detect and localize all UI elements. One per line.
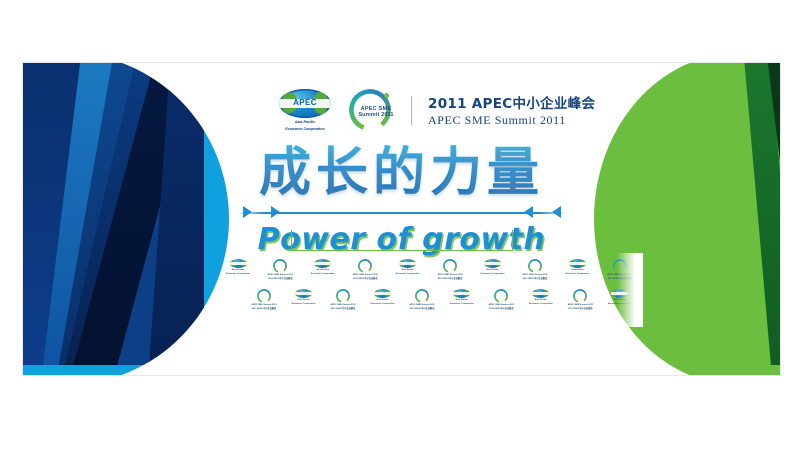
apec-globe-icon	[230, 259, 247, 268]
mini-logo-caption-2: Economic Cooperation	[364, 303, 402, 306]
mini-logo-caption-2: 2011 APEC中小企业峰会	[561, 308, 599, 311]
arrow-right-icon-1	[243, 206, 252, 218]
header-title-group: 2011 APEC中小企业峰会 APEC SME Summit 2011	[426, 92, 595, 128]
mini-logo-caption-2: 2011 APEC中小企业峰会	[324, 308, 362, 311]
mini-logo-caption-1: Asia-Pacific	[219, 269, 257, 272]
mini-logo-caption-2: Economic Cooperation	[304, 273, 342, 276]
apec-sme-summit-ring-icon	[415, 289, 429, 303]
globe-band	[453, 292, 470, 295]
mini-logo-caption-2: Economic Cooperation	[285, 303, 323, 306]
apec-sme-summit-ring-icon	[613, 259, 627, 273]
apec-globe-icon	[569, 259, 586, 268]
mini-logo-caption-2: 2011 APEC中小企业峰会	[261, 278, 299, 281]
apec-sme-summit-ring-icon	[257, 289, 271, 303]
main-title-block: 成长的力量 Power of growth	[23, 145, 780, 257]
mini-logo-caption-2: Economic Cooperation	[559, 273, 597, 276]
arrow-left-icon-1	[524, 206, 533, 218]
apec-caption-line1: Asia-Pacific	[275, 120, 335, 125]
apec-globe-icon	[611, 289, 628, 298]
mini-logo-caption-2: 2011 APEC中小企业峰会	[516, 278, 554, 281]
sme-text-line2: Summit 2011	[355, 112, 397, 118]
logo-pattern-row-2: APEC SME Summit 20112011 APEC中小企业峰会Asia-…	[245, 289, 639, 311]
header-title-chinese: 2011 APEC中小企业峰会	[428, 92, 595, 112]
globe-band	[569, 262, 586, 265]
mini-apec-logo: Asia-PacificEconomic Cooperation	[559, 259, 597, 281]
apec-caption-line2: Economic Cooperation	[275, 127, 335, 132]
apec-logo: APEC Asia-Pacific Economic Cooperation	[275, 89, 335, 131]
mini-sme-summit-logo: APEC SME Summit 20112011 APEC中小企业峰会	[324, 289, 362, 311]
apec-wordmark: APEC	[279, 98, 331, 108]
apec-sme-summit-ring-icon	[528, 259, 542, 273]
mini-logo-caption-2: 2011 APEC中小企业峰会	[403, 308, 441, 311]
mini-apec-logo: Asia-PacificEconomic Cooperation	[601, 289, 639, 311]
mini-logo-caption-2: 2011 APEC中小企业峰会	[482, 308, 520, 311]
mini-apec-logo: Asia-PacificEconomic Cooperation	[474, 259, 512, 281]
mini-logo-caption-1: Asia-Pacific	[304, 269, 342, 272]
mini-sme-summit-logo: APEC SME Summit 20112011 APEC中小企业峰会	[601, 259, 639, 281]
mini-logo-caption-1: APEC SME Summit 2011	[601, 274, 639, 277]
mini-sme-summit-logo: APEC SME Summit 20112011 APEC中小企业峰会	[516, 259, 554, 281]
apec-globe-icon	[484, 259, 501, 268]
mini-logo-caption-1: Asia-Pacific	[522, 299, 560, 302]
apec-sme-summit-ring-icon	[573, 289, 587, 303]
apec-sme-summit-ring-icon	[273, 259, 287, 273]
apec-globe-icon: APEC	[279, 89, 331, 118]
mini-logo-caption-2: Economic Cooperation	[443, 303, 481, 306]
mini-apec-logo: Asia-PacificEconomic Cooperation	[389, 259, 427, 281]
globe-band	[314, 262, 331, 265]
mini-sme-summit-logo: APEC SME Summit 20112011 APEC中小企业峰会	[245, 289, 283, 311]
mini-apec-logo: Asia-PacificEconomic Cooperation	[443, 289, 481, 311]
sme-logo-text: APEC SME Summit 2011	[355, 106, 397, 119]
mini-logo-caption-1: APEC SME Summit 2011	[561, 304, 599, 307]
mini-logo-caption-1: APEC SME Summit 2011	[516, 274, 554, 277]
rule-line	[237, 212, 567, 214]
apec-globe-icon	[453, 289, 470, 298]
main-title-chinese: 成长的力量	[23, 145, 780, 201]
mini-logo-caption-2: Economic Cooperation	[522, 303, 560, 306]
mini-logo-caption-2: Economic Cooperation	[474, 273, 512, 276]
mini-logo-caption-2: 2011 APEC中小企业峰会	[346, 278, 384, 281]
mini-logo-caption-2: 2011 APEC中小企业峰会	[601, 278, 639, 281]
mini-logo-caption-1: APEC SME Summit 2011	[245, 304, 283, 307]
globe-band	[399, 262, 416, 265]
event-backdrop-board: APEC Asia-Pacific Economic Cooperation A…	[23, 63, 780, 375]
apec-sme-summit-logo: APEC SME Summit 2011	[345, 87, 401, 133]
mini-apec-logo: Asia-PacificEconomic Cooperation	[364, 289, 402, 311]
mini-logo-caption-1: APEC SME Summit 2011	[431, 274, 469, 277]
title-decorative-rule	[237, 203, 567, 221]
mini-logo-caption-1: APEC SME Summit 2011	[261, 274, 299, 277]
globe-band	[484, 262, 501, 265]
apec-globe-icon	[532, 289, 549, 298]
mini-logo-caption-1: Asia-Pacific	[285, 299, 323, 302]
mini-apec-logo: Asia-PacificEconomic Cooperation	[522, 289, 560, 311]
globe-band	[532, 292, 549, 295]
globe-band	[611, 292, 628, 295]
mini-logo-caption-2: Economic Cooperation	[389, 273, 427, 276]
mini-logo-caption-1: Asia-Pacific	[474, 269, 512, 272]
mini-logo-caption-2: 2011 APEC中小企业峰会	[431, 278, 469, 281]
mini-logo-caption-2: 2011 APEC中小企业峰会	[245, 308, 283, 311]
mini-sme-summit-logo: APEC SME Summit 20112011 APEC中小企业峰会	[403, 289, 441, 311]
apec-globe-icon	[374, 289, 391, 298]
apec-globe-icon	[399, 259, 416, 268]
logo-pattern-band: Asia-PacificEconomic CooperationAPEC SME…	[219, 259, 639, 321]
mini-sme-summit-logo: APEC SME Summit 20112011 APEC中小企业峰会	[561, 289, 599, 311]
poster-canvas: APEC Asia-Pacific Economic Cooperation A…	[0, 0, 800, 450]
mini-sme-summit-logo: APEC SME Summit 20112011 APEC中小企业峰会	[261, 259, 299, 281]
mini-logo-caption-1: Asia-Pacific	[364, 299, 402, 302]
mini-logo-caption-1: Asia-Pacific	[601, 299, 639, 302]
mini-logo-caption-1: Asia-Pacific	[443, 299, 481, 302]
apec-globe-icon	[295, 289, 312, 298]
globe-band	[374, 292, 391, 295]
mini-logo-caption-2: Economic Cooperation	[219, 273, 257, 276]
sme-accent-dot-icon	[384, 93, 389, 98]
mini-logo-caption-1: Asia-Pacific	[389, 269, 427, 272]
arrow-left-icon-2	[552, 206, 561, 218]
apec-sme-summit-ring-icon	[443, 259, 457, 273]
arrow-right-icon-2	[271, 206, 280, 218]
mini-logo-caption-1: APEC SME Summit 2011	[324, 304, 362, 307]
mini-sme-summit-logo: APEC SME Summit 20112011 APEC中小企业峰会	[431, 259, 469, 281]
main-title-english: Power of growth	[258, 222, 546, 257]
mini-logo-caption-2: Economic Cooperation	[601, 303, 639, 306]
mini-logo-caption-1: APEC SME Summit 2011	[346, 274, 384, 277]
mini-apec-logo: Asia-PacificEconomic Cooperation	[219, 259, 257, 281]
globe-band	[230, 262, 247, 265]
mini-logo-caption-1: APEC SME Summit 2011	[482, 304, 520, 307]
apec-sme-summit-ring-icon	[494, 289, 508, 303]
apec-sme-summit-ring-icon	[358, 259, 372, 273]
mini-apec-logo: Asia-PacificEconomic Cooperation	[285, 289, 323, 311]
apec-sme-summit-ring-icon	[336, 289, 350, 303]
mini-logo-caption-1: Asia-Pacific	[559, 269, 597, 272]
mini-apec-logo: Asia-PacificEconomic Cooperation	[304, 259, 342, 281]
mini-sme-summit-logo: APEC SME Summit 20112011 APEC中小企业峰会	[346, 259, 384, 281]
globe-band	[295, 292, 312, 295]
mini-sme-summit-logo: APEC SME Summit 20112011 APEC中小企业峰会	[482, 289, 520, 311]
logo-pattern-row-1: Asia-PacificEconomic CooperationAPEC SME…	[219, 259, 639, 281]
apec-globe-icon	[314, 259, 331, 268]
mini-logo-caption-1: APEC SME Summit 2011	[403, 304, 441, 307]
header-logo-row: APEC Asia-Pacific Economic Cooperation A…	[275, 87, 595, 133]
header-divider	[411, 96, 412, 125]
header-title-english: APEC SME Summit 2011	[428, 113, 595, 128]
